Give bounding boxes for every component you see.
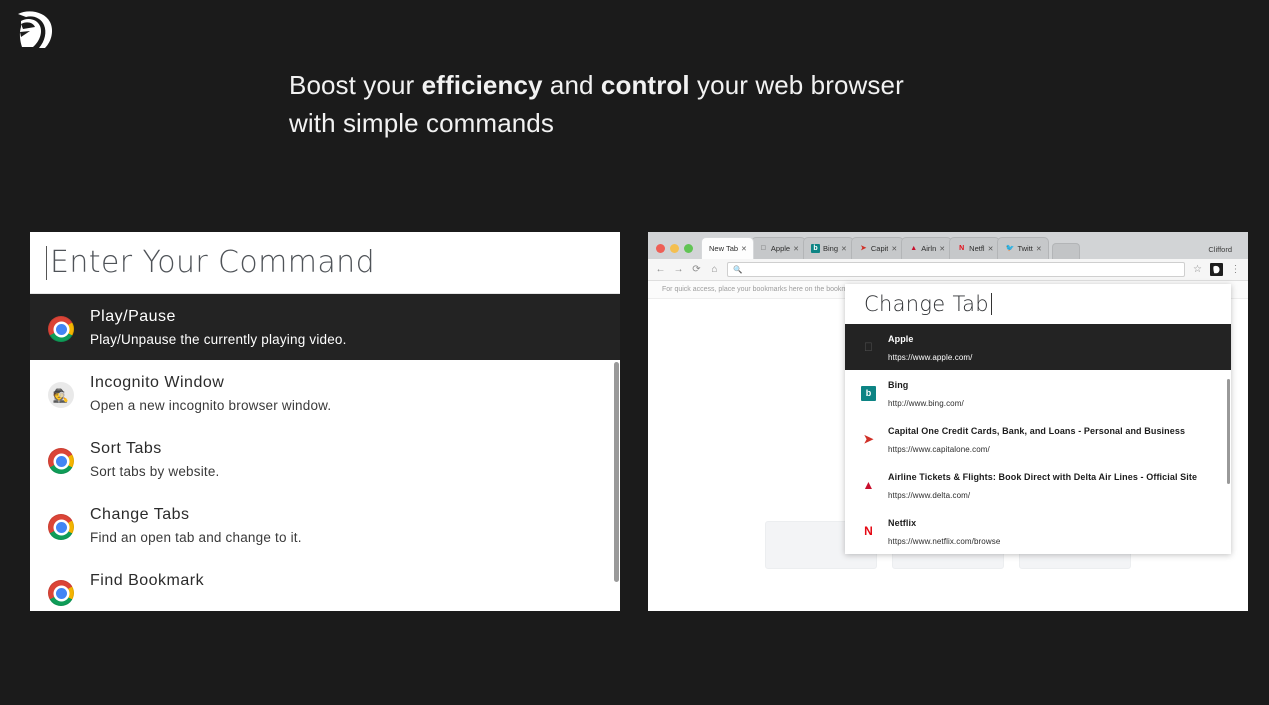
list-item[interactable]: ➤ Capital One Credit Cards, Bank, and Lo…	[845, 416, 1231, 462]
chrome-icon	[48, 514, 74, 540]
arrow-right-icon[interactable]: →	[673, 265, 684, 275]
browser-tab-new-tab[interactable]: New Tab ✕	[701, 237, 754, 259]
change-tab-overlay: Change Tab  Apple https://www.apple.com…	[845, 284, 1231, 554]
browser-tab-apple[interactable]:  Apple ✕	[751, 237, 806, 259]
result-title: Apple	[888, 334, 914, 344]
command-palette-panel: Enter Your Command Play/Pause Play/Unpau…	[30, 232, 620, 611]
tab-label: Twitt	[1017, 244, 1032, 253]
close-icon[interactable]: ✕	[1036, 245, 1042, 253]
list-item[interactable]: b Bing http://www.bing.com/	[845, 370, 1231, 416]
command-description: Open a new incognito browser window.	[90, 398, 331, 413]
command-title: Find Bookmark	[90, 572, 204, 590]
command-description: Play/Unpause the currently playing video…	[90, 332, 347, 347]
browser-tab-capitalone[interactable]: ➤ Capit ✕	[851, 237, 904, 259]
profile-name-label[interactable]: Clifford	[1208, 245, 1232, 254]
command-input-bar[interactable]: Enter Your Command	[30, 232, 620, 294]
incognito-icon: 🕵	[48, 382, 74, 408]
tab-label: Capit	[871, 244, 889, 253]
spartan-helmet-icon	[1212, 265, 1221, 274]
command-title: Play/Pause	[90, 308, 347, 326]
results-scrollbar[interactable]	[1227, 379, 1230, 484]
headline-bold-efficiency: efficiency	[422, 70, 543, 100]
brand-logo	[8, 8, 60, 54]
result-title: Bing	[888, 380, 908, 390]
bing-icon: b	[861, 386, 876, 401]
headline-bold-control: control	[601, 70, 690, 100]
reload-icon[interactable]: ⟳	[691, 265, 702, 275]
netflix-icon: N	[957, 244, 966, 253]
spartan-helmet-icon	[8, 8, 60, 54]
bookmarks-bar-hint: For quick access, place your bookmarks h…	[662, 286, 874, 293]
apple-icon: 	[861, 340, 876, 355]
tab-label: Bing	[823, 244, 838, 253]
command-list: Play/Pause Play/Unpause the currently pl…	[30, 294, 620, 611]
command-description: Find an open tab and change to it.	[90, 530, 302, 545]
command-description: Sort tabs by website.	[90, 464, 220, 479]
browser-window: New Tab ✕  Apple ✕ b Bing ✕ ➤ Capit ✕ ▲…	[648, 232, 1248, 611]
bing-icon: b	[811, 244, 820, 253]
result-title: Netflix	[888, 518, 916, 528]
zoom-window-button[interactable]	[684, 244, 693, 253]
home-icon[interactable]: ⌂	[709, 265, 720, 275]
tab-label: New Tab	[709, 244, 738, 253]
search-icon: 🔍	[733, 265, 742, 274]
command-title: Incognito Window	[90, 374, 331, 392]
change-tab-input-value: Change Tab	[864, 292, 989, 316]
command-title: Sort Tabs	[90, 440, 220, 458]
close-icon[interactable]: ✕	[793, 245, 799, 253]
text-caret	[46, 246, 47, 280]
page-headline: Boost your efficiency and control your w…	[289, 66, 1049, 142]
list-item[interactable]: Sort Tabs Sort tabs by website.	[30, 426, 620, 492]
omnibox-input[interactable]: 🔍	[727, 262, 1185, 277]
change-tab-input[interactable]: Change Tab	[845, 284, 1231, 324]
command-input-value[interactable]: Enter Your Command	[50, 245, 375, 280]
close-icon[interactable]: ✕	[841, 245, 847, 253]
delta-icon: ▲	[861, 478, 876, 493]
close-icon[interactable]: ✕	[741, 245, 747, 253]
chrome-icon	[48, 448, 74, 474]
list-item[interactable]: N Netflix https://www.netflix.com/browse	[845, 508, 1231, 554]
result-url: https://www.delta.com/	[888, 491, 970, 500]
browser-tab-bing[interactable]: b Bing ✕	[803, 237, 854, 259]
result-title: Capital One Credit Cards, Bank, and Loan…	[888, 426, 1185, 436]
close-window-button[interactable]	[656, 244, 665, 253]
headline-line-2: with simple commands	[289, 108, 554, 138]
headline-segment-3: your web browser	[690, 70, 904, 100]
result-title: Airline Tickets & Flights: Book Direct w…	[888, 472, 1197, 482]
tab-label: Apple	[771, 244, 790, 253]
arrow-left-icon[interactable]: ←	[655, 265, 666, 275]
chrome-icon	[48, 580, 74, 606]
twitter-icon: 🐦	[1005, 244, 1014, 253]
delta-icon: ▲	[909, 244, 918, 253]
browser-toolbar: ← → ⟳ ⌂ 🔍 ☆ ⋮	[648, 259, 1248, 281]
command-title: Change Tabs	[90, 506, 302, 524]
result-url: https://www.capitalone.com/	[888, 445, 990, 454]
result-url: https://www.apple.com/	[888, 353, 972, 362]
text-caret	[991, 293, 992, 315]
new-tab-button[interactable]	[1052, 243, 1080, 259]
change-tab-results:  Apple https://www.apple.com/ b Bing ht…	[845, 324, 1231, 554]
command-list-scrollbar[interactable]	[614, 362, 619, 582]
extension-icon[interactable]	[1210, 263, 1223, 276]
browser-tab-twitter[interactable]: 🐦 Twitt ✕	[997, 237, 1048, 259]
window-controls[interactable]	[654, 244, 701, 259]
result-url: http://www.bing.com/	[888, 399, 964, 408]
browser-tabstrip: New Tab ✕  Apple ✕ b Bing ✕ ➤ Capit ✕ ▲…	[648, 232, 1248, 259]
list-item[interactable]: Find Bookmark	[30, 558, 620, 611]
close-icon[interactable]: ✕	[939, 245, 945, 253]
three-dot-menu-icon[interactable]: ⋮	[1230, 265, 1241, 275]
star-icon[interactable]: ☆	[1192, 265, 1203, 275]
headline-segment-2: and	[543, 70, 601, 100]
tab-label: Netfl	[969, 244, 984, 253]
close-icon[interactable]: ✕	[891, 245, 897, 253]
tab-label: Airln	[921, 244, 936, 253]
list-item[interactable]: Play/Pause Play/Unpause the currently pl…	[30, 294, 620, 360]
result-url: https://www.netflix.com/browse	[888, 537, 1000, 546]
list-item[interactable]:  Apple https://www.apple.com/	[845, 324, 1231, 370]
capitalone-icon: ➤	[859, 244, 868, 253]
list-item[interactable]: ▲ Airline Tickets & Flights: Book Direct…	[845, 462, 1231, 508]
apple-icon: 	[759, 244, 768, 253]
netflix-icon: N	[861, 524, 876, 539]
chrome-icon	[48, 316, 74, 342]
browser-tab-netflix[interactable]: N Netfl ✕	[949, 237, 1000, 259]
minimize-window-button[interactable]	[670, 244, 679, 253]
close-icon[interactable]: ✕	[988, 245, 994, 253]
capitalone-icon: ➤	[861, 432, 876, 447]
headline-segment-1: Boost your	[289, 70, 422, 100]
browser-tab-delta[interactable]: ▲ Airln ✕	[901, 237, 952, 259]
list-item[interactable]: 🕵 Incognito Window Open a new incognito …	[30, 360, 620, 426]
list-item[interactable]: Change Tabs Find an open tab and change …	[30, 492, 620, 558]
